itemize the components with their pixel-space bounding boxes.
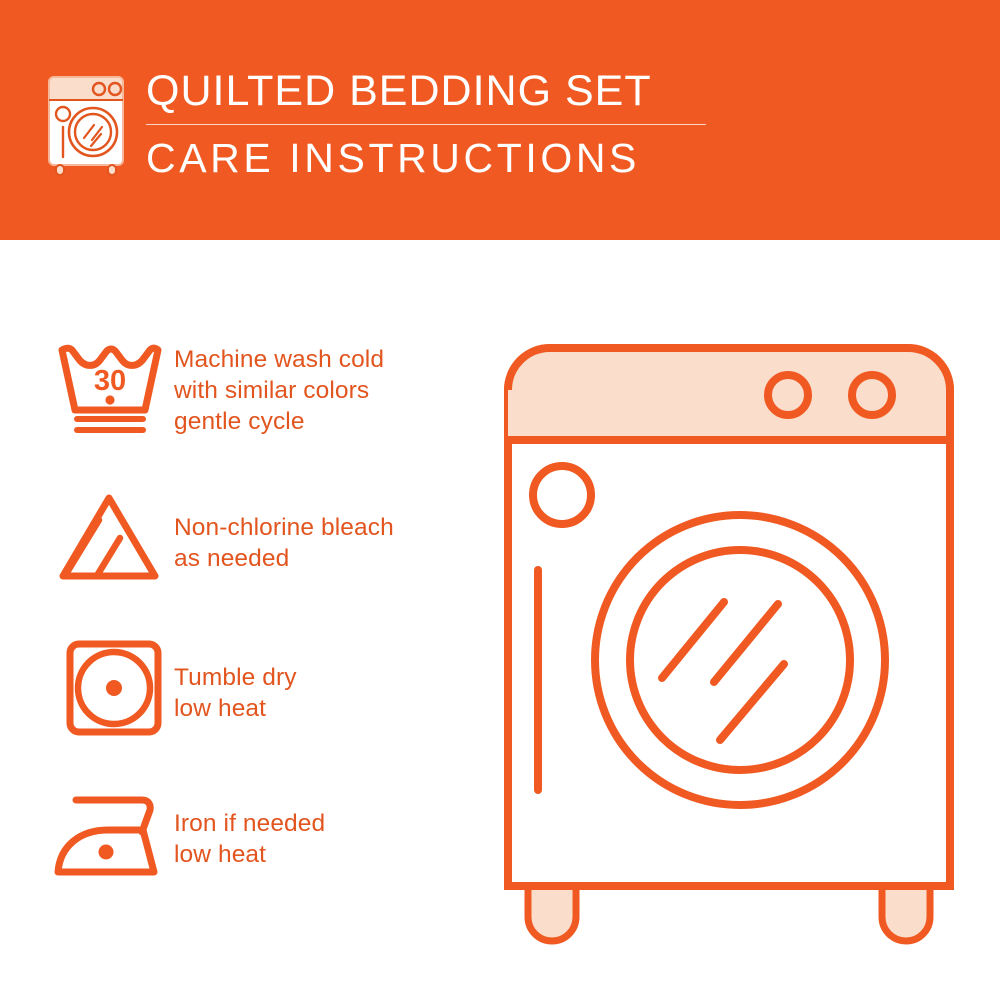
header-banner: QUILTED BEDDING SET CARE INSTRUCTIONS <box>0 0 1000 240</box>
care-line: Machine wash cold <box>174 344 384 375</box>
page-title: QUILTED BEDDING SET <box>146 66 706 116</box>
care-row-iron: Iron if needed low heat <box>44 788 464 880</box>
care-line: Tumble dry <box>174 662 297 693</box>
low-heat-dot <box>106 680 122 696</box>
care-row-tumble-dry: Tumble dry low heat <box>44 638 464 738</box>
machine-wash-tub-icon: 30 <box>44 340 174 436</box>
care-row-machine-wash: 30 Machine wash cold with similar colors… <box>44 340 464 437</box>
care-line: Non-chlorine bleach <box>174 512 394 543</box>
gentle-cycle-dot <box>105 395 114 404</box>
care-label-tumble-dry: Tumble dry low heat <box>174 638 297 724</box>
low-heat-dot <box>99 845 114 860</box>
washing-machine-logo-icon <box>44 72 128 178</box>
page-subtitle: CARE INSTRUCTIONS <box>146 134 706 182</box>
wash-temperature-label: 30 <box>94 365 126 397</box>
washing-machine-illustration <box>490 330 980 950</box>
tumble-dry-icon <box>44 638 174 738</box>
header-title-block: QUILTED BEDDING SET CARE INSTRUCTIONS <box>146 66 706 182</box>
iron-icon <box>44 788 174 880</box>
care-row-bleach: Non-chlorine bleach as needed <box>44 490 464 582</box>
non-chlorine-bleach-triangle-icon <box>44 490 174 582</box>
care-line: low heat <box>174 693 297 724</box>
gentle-bar-2 <box>74 427 146 433</box>
care-label-iron: Iron if needed low heat <box>174 788 325 870</box>
care-instruction-list: 30 Machine wash cold with similar colors… <box>0 240 470 1000</box>
care-line: Iron if needed <box>174 808 325 839</box>
care-line: as needed <box>174 543 394 574</box>
control-panel <box>508 348 950 440</box>
care-label-machine-wash: Machine wash cold with similar colors ge… <box>174 340 384 437</box>
care-line: gentle cycle <box>174 406 384 437</box>
gentle-bar-1 <box>74 416 146 422</box>
care-line: with similar colors <box>174 375 384 406</box>
care-instructions-infographic: QUILTED BEDDING SET CARE INSTRUCTIONS 30 <box>0 0 1000 1000</box>
title-divider <box>146 124 706 125</box>
care-line: low heat <box>174 839 325 870</box>
care-label-bleach: Non-chlorine bleach as needed <box>174 490 394 574</box>
